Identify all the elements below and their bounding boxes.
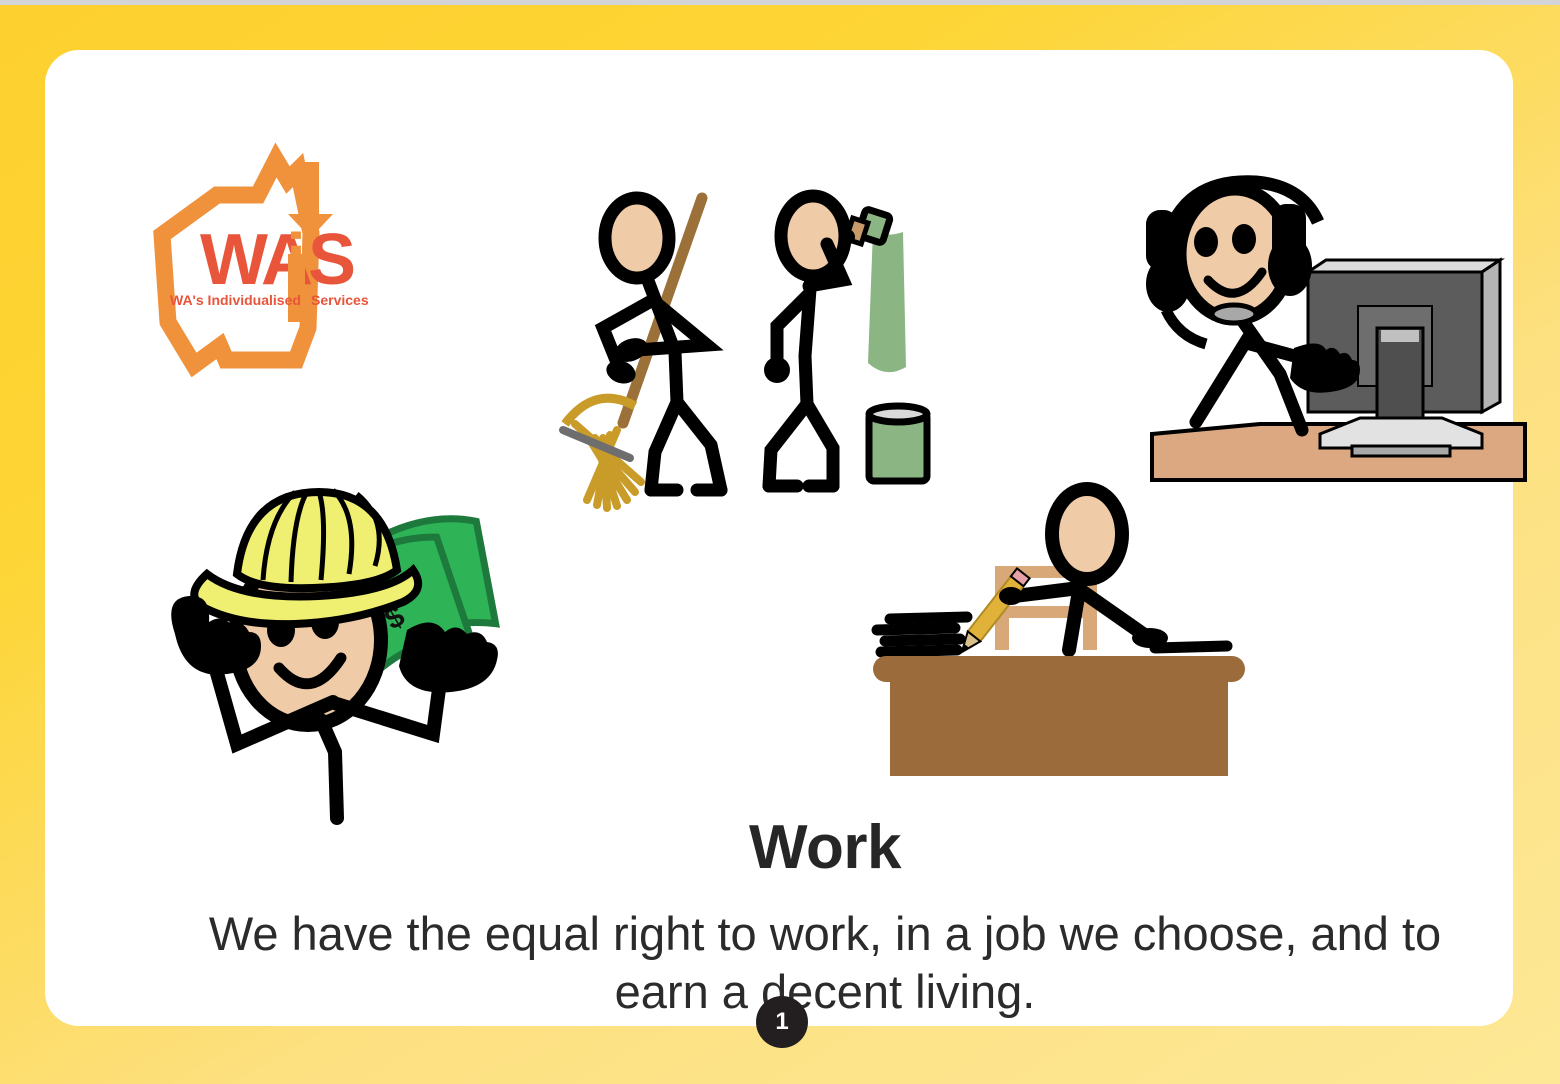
slide-canvas: WA i S WA's Individualised Services (0, 0, 1560, 1084)
desk-icon (873, 656, 1245, 776)
paint-can-icon (869, 406, 927, 481)
page-caption: We have the equal right to work, in a jo… (175, 905, 1475, 1021)
paper-lines-icon (877, 617, 967, 652)
accent-bar (288, 254, 305, 322)
office-desk-worker (855, 480, 1275, 792)
wais-tagline: WA's Individualised Services (170, 292, 369, 308)
svg-text:Services: Services (311, 292, 369, 308)
svg-text:S: S (308, 220, 356, 300)
svg-text:WA's Individualised: WA's Individualised (170, 292, 301, 308)
slide-card: WA i S WA's Individualised Services (45, 50, 1513, 1026)
construction-worker-with-money: $ $ $ (145, 462, 545, 822)
painting-figure-hands (764, 357, 790, 383)
holding-hand-icon (399, 622, 498, 692)
page-title: Work (45, 812, 1560, 883)
page-number-badge: 1 (756, 996, 808, 1048)
painting-figure (769, 196, 845, 486)
desk-item-line (1155, 646, 1227, 648)
wais-logo[interactable]: WA i S WA's Individualised Services (148, 132, 398, 377)
hard-hat-icon (194, 490, 418, 624)
top-edge-divider (0, 0, 1560, 5)
paint-stroke (868, 230, 906, 372)
sweeping-and-painting-figures (525, 180, 950, 520)
call-centre-worker (1130, 162, 1525, 497)
wais-wordmark: WA i S (200, 220, 356, 300)
